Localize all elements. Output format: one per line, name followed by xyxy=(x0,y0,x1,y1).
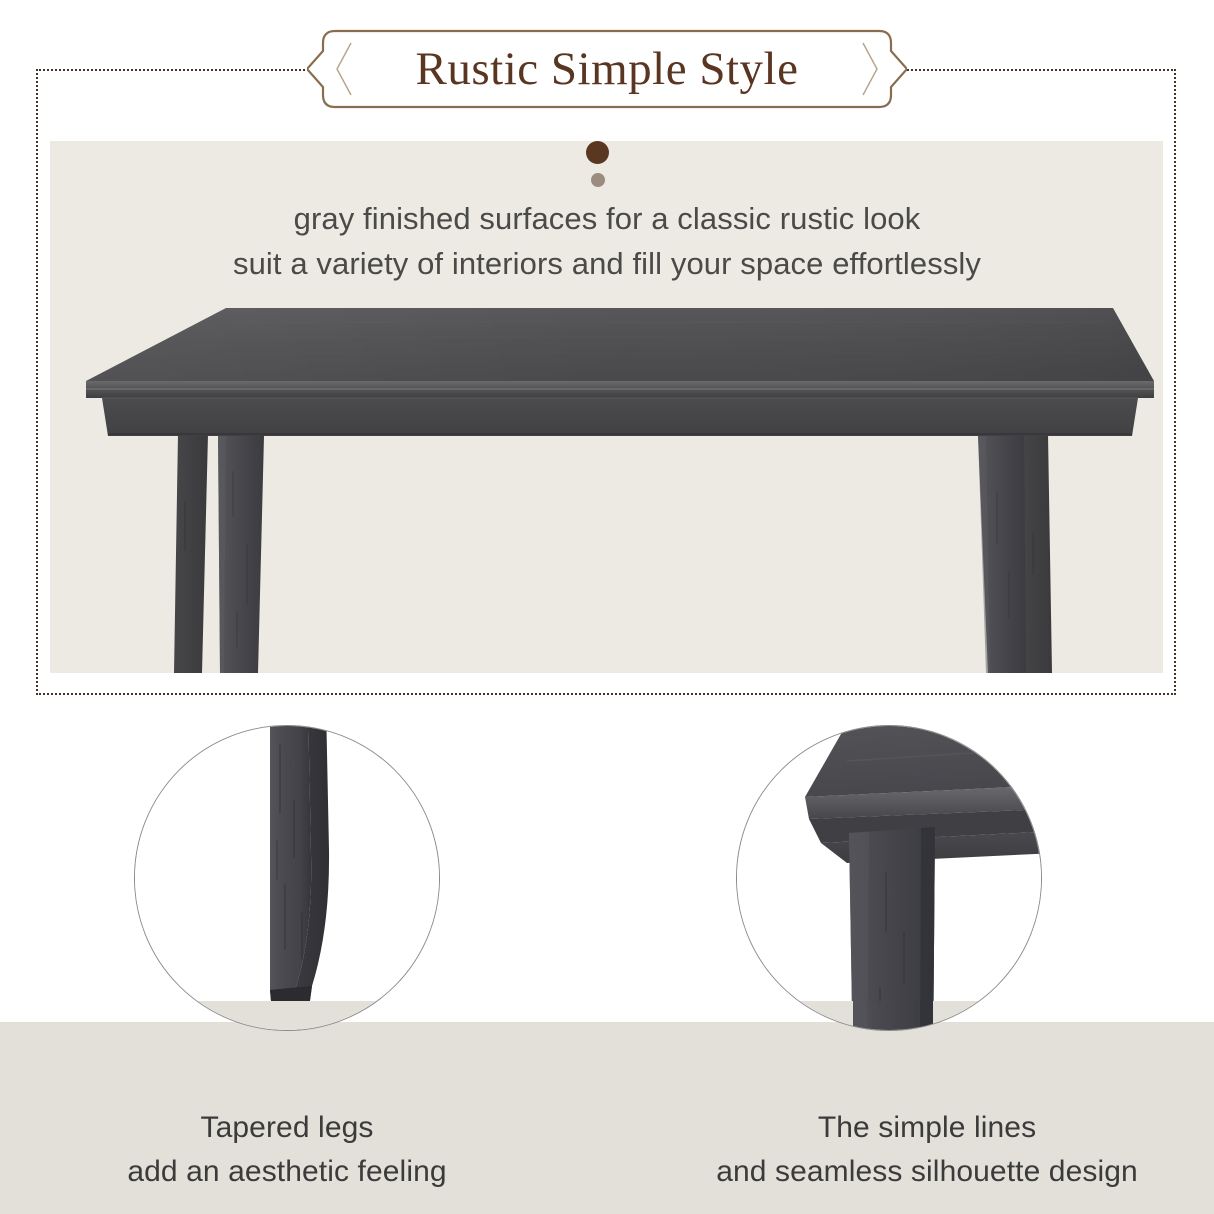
bullet-dot-small xyxy=(591,173,605,187)
title-badge: Rustic Simple Style xyxy=(307,25,907,113)
bullet-dot-large xyxy=(586,141,609,164)
detail-callout-tapered-leg xyxy=(134,725,440,1031)
detail-caption-right-line-1: The simple lines xyxy=(818,1111,1036,1144)
detail-circle-frame-right xyxy=(736,725,1042,1031)
detail-caption-left-line-1: Tapered legs xyxy=(201,1111,374,1144)
hero-line-2: suit a variety of interiors and fill you… xyxy=(0,241,1214,286)
detail-caption-left: Tapered legs add an aesthetic feeling xyxy=(7,1106,567,1194)
hero-line-1: gray finished surfaces for a classic rus… xyxy=(0,196,1214,241)
detail-circle-frame-left xyxy=(134,725,440,1031)
detail-caption-right-line-2: and seamless silhouette design xyxy=(647,1150,1207,1194)
hero-description: gray finished surfaces for a classic rus… xyxy=(0,196,1214,286)
detail-caption-right: The simple lines and seamless silhouette… xyxy=(647,1106,1207,1194)
detail-caption-left-line-2: add an aesthetic feeling xyxy=(7,1150,567,1194)
detail-callout-corner-joint xyxy=(736,725,1042,1031)
page-title: Rustic Simple Style xyxy=(307,25,907,113)
